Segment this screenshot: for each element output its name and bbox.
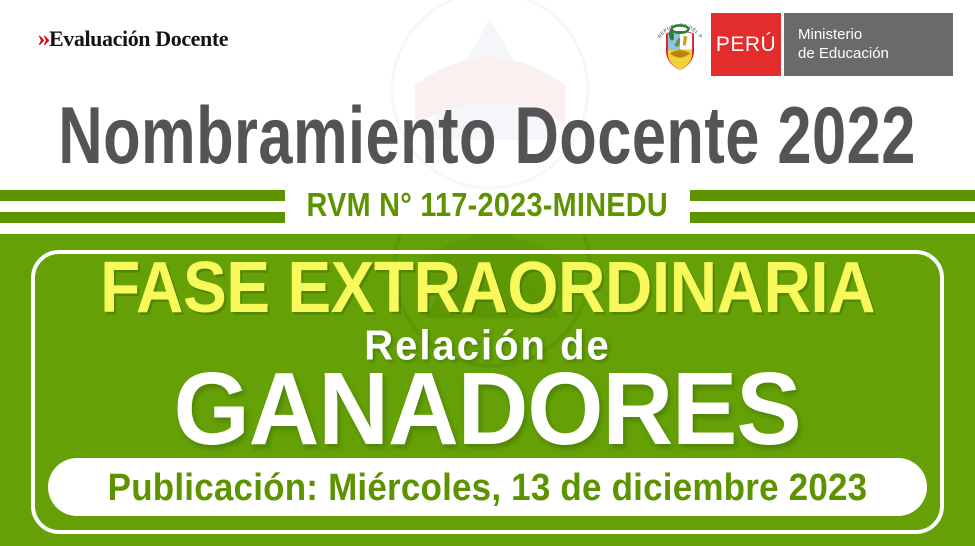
page-header: » Evaluación Docente REPUBLICA DEL PERU xyxy=(0,0,975,92)
poster-root: » Evaluación Docente REPUBLICA DEL PERU xyxy=(0,0,975,546)
ministry-line-2: de Educación xyxy=(798,45,953,63)
evaluacion-docente-logo: » Evaluación Docente xyxy=(38,27,228,51)
rvm-bar-left-top xyxy=(0,190,285,201)
page-title-text: Nombramiento Docente 2022 xyxy=(59,95,917,176)
green-announcement-panel: FASE EXTRAORDINARIA Relación de GANADORE… xyxy=(0,234,975,546)
minedu-logo-block: REPUBLICA DEL PERU PERÚ Ministerio xyxy=(649,13,953,76)
peru-label-box: PERÚ xyxy=(711,13,781,76)
ministry-line-1: Ministerio xyxy=(798,26,953,44)
headline-text: GANADORES xyxy=(174,357,801,460)
peru-label: PERÚ xyxy=(716,33,776,57)
page-title: Nombramiento Docente 2022 xyxy=(0,96,975,174)
headline: GANADORES xyxy=(0,366,975,452)
publication-badge: Publicación: Miércoles, 13 de diciembre … xyxy=(48,458,927,516)
rvm-bars-left xyxy=(0,190,285,223)
rvm-bars-right xyxy=(690,190,975,223)
phase-title: FASE EXTRAORDINARIA xyxy=(0,258,975,320)
phase-title-text: FASE EXTRAORDINARIA xyxy=(100,253,875,325)
rvm-bar-left-bottom xyxy=(0,212,285,223)
double-chevron-icon: » xyxy=(38,27,49,51)
peru-coat-of-arms-icon: REPUBLICA DEL PERU xyxy=(649,13,711,76)
rvm-bar-right-bottom xyxy=(690,212,975,223)
rvm-bar-right-top xyxy=(690,190,975,201)
rvm-band: RVM N° 117-2023-MINEDU xyxy=(0,178,975,234)
publication-date-text: Publicación: Miércoles, 13 de diciembre … xyxy=(108,468,868,506)
ministry-label-box: Ministerio de Educación xyxy=(781,13,953,76)
rvm-number-text: RVM N° 117-2023-MINEDU xyxy=(307,189,668,223)
evaluacion-docente-label: Evaluación Docente xyxy=(49,28,228,50)
